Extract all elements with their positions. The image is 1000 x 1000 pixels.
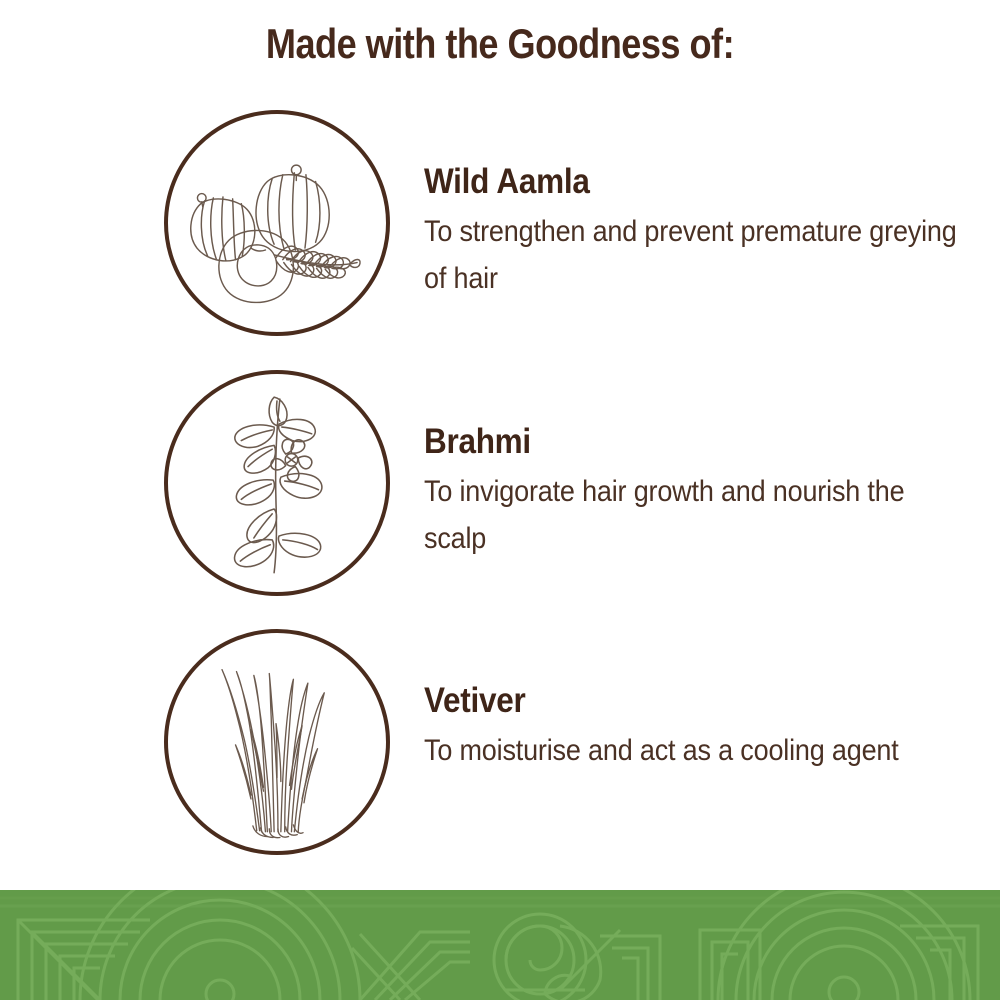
labyrinth-arc-pattern-icon: [0, 890, 1000, 1000]
amla-fruit-icon: [168, 114, 386, 332]
ingredient-description: To strengthen and prevent premature grey…: [424, 209, 969, 303]
ingredient-icon-circle: [164, 629, 390, 855]
ingredient-icon-circle: [164, 370, 390, 596]
ingredient-item-vetiver: Vetiver To moisturise and act as a cooli…: [0, 625, 1000, 857]
ingredient-description: To invigorate hair growth and nourish th…: [424, 469, 969, 563]
vetiver-grass-icon: [168, 633, 386, 851]
brahmi-plant-icon: [168, 374, 386, 592]
ingredient-item-brahmi: Brahmi To invigorate hair growth and nou…: [0, 366, 1000, 598]
ingredient-name: Brahmi: [424, 424, 915, 459]
ingredient-name: Wild Aamla: [424, 164, 915, 199]
ingredient-list: Wild Aamla To strengthen and prevent pre…: [0, 0, 1000, 890]
ingredient-name: Vetiver: [424, 683, 915, 718]
ingredient-item-wild-aamla: Wild Aamla To strengthen and prevent pre…: [0, 106, 1000, 338]
footer-decorative-band: [0, 890, 1000, 1000]
ingredient-icon-circle: [164, 110, 390, 336]
ingredient-text-block: Wild Aamla To strengthen and prevent pre…: [424, 164, 970, 303]
ingredient-text-block: Vetiver To moisturise and act as a cooli…: [424, 683, 970, 775]
ingredient-description: To moisturise and act as a cooling agent: [424, 728, 969, 775]
ingredient-text-block: Brahmi To invigorate hair growth and nou…: [424, 424, 970, 563]
